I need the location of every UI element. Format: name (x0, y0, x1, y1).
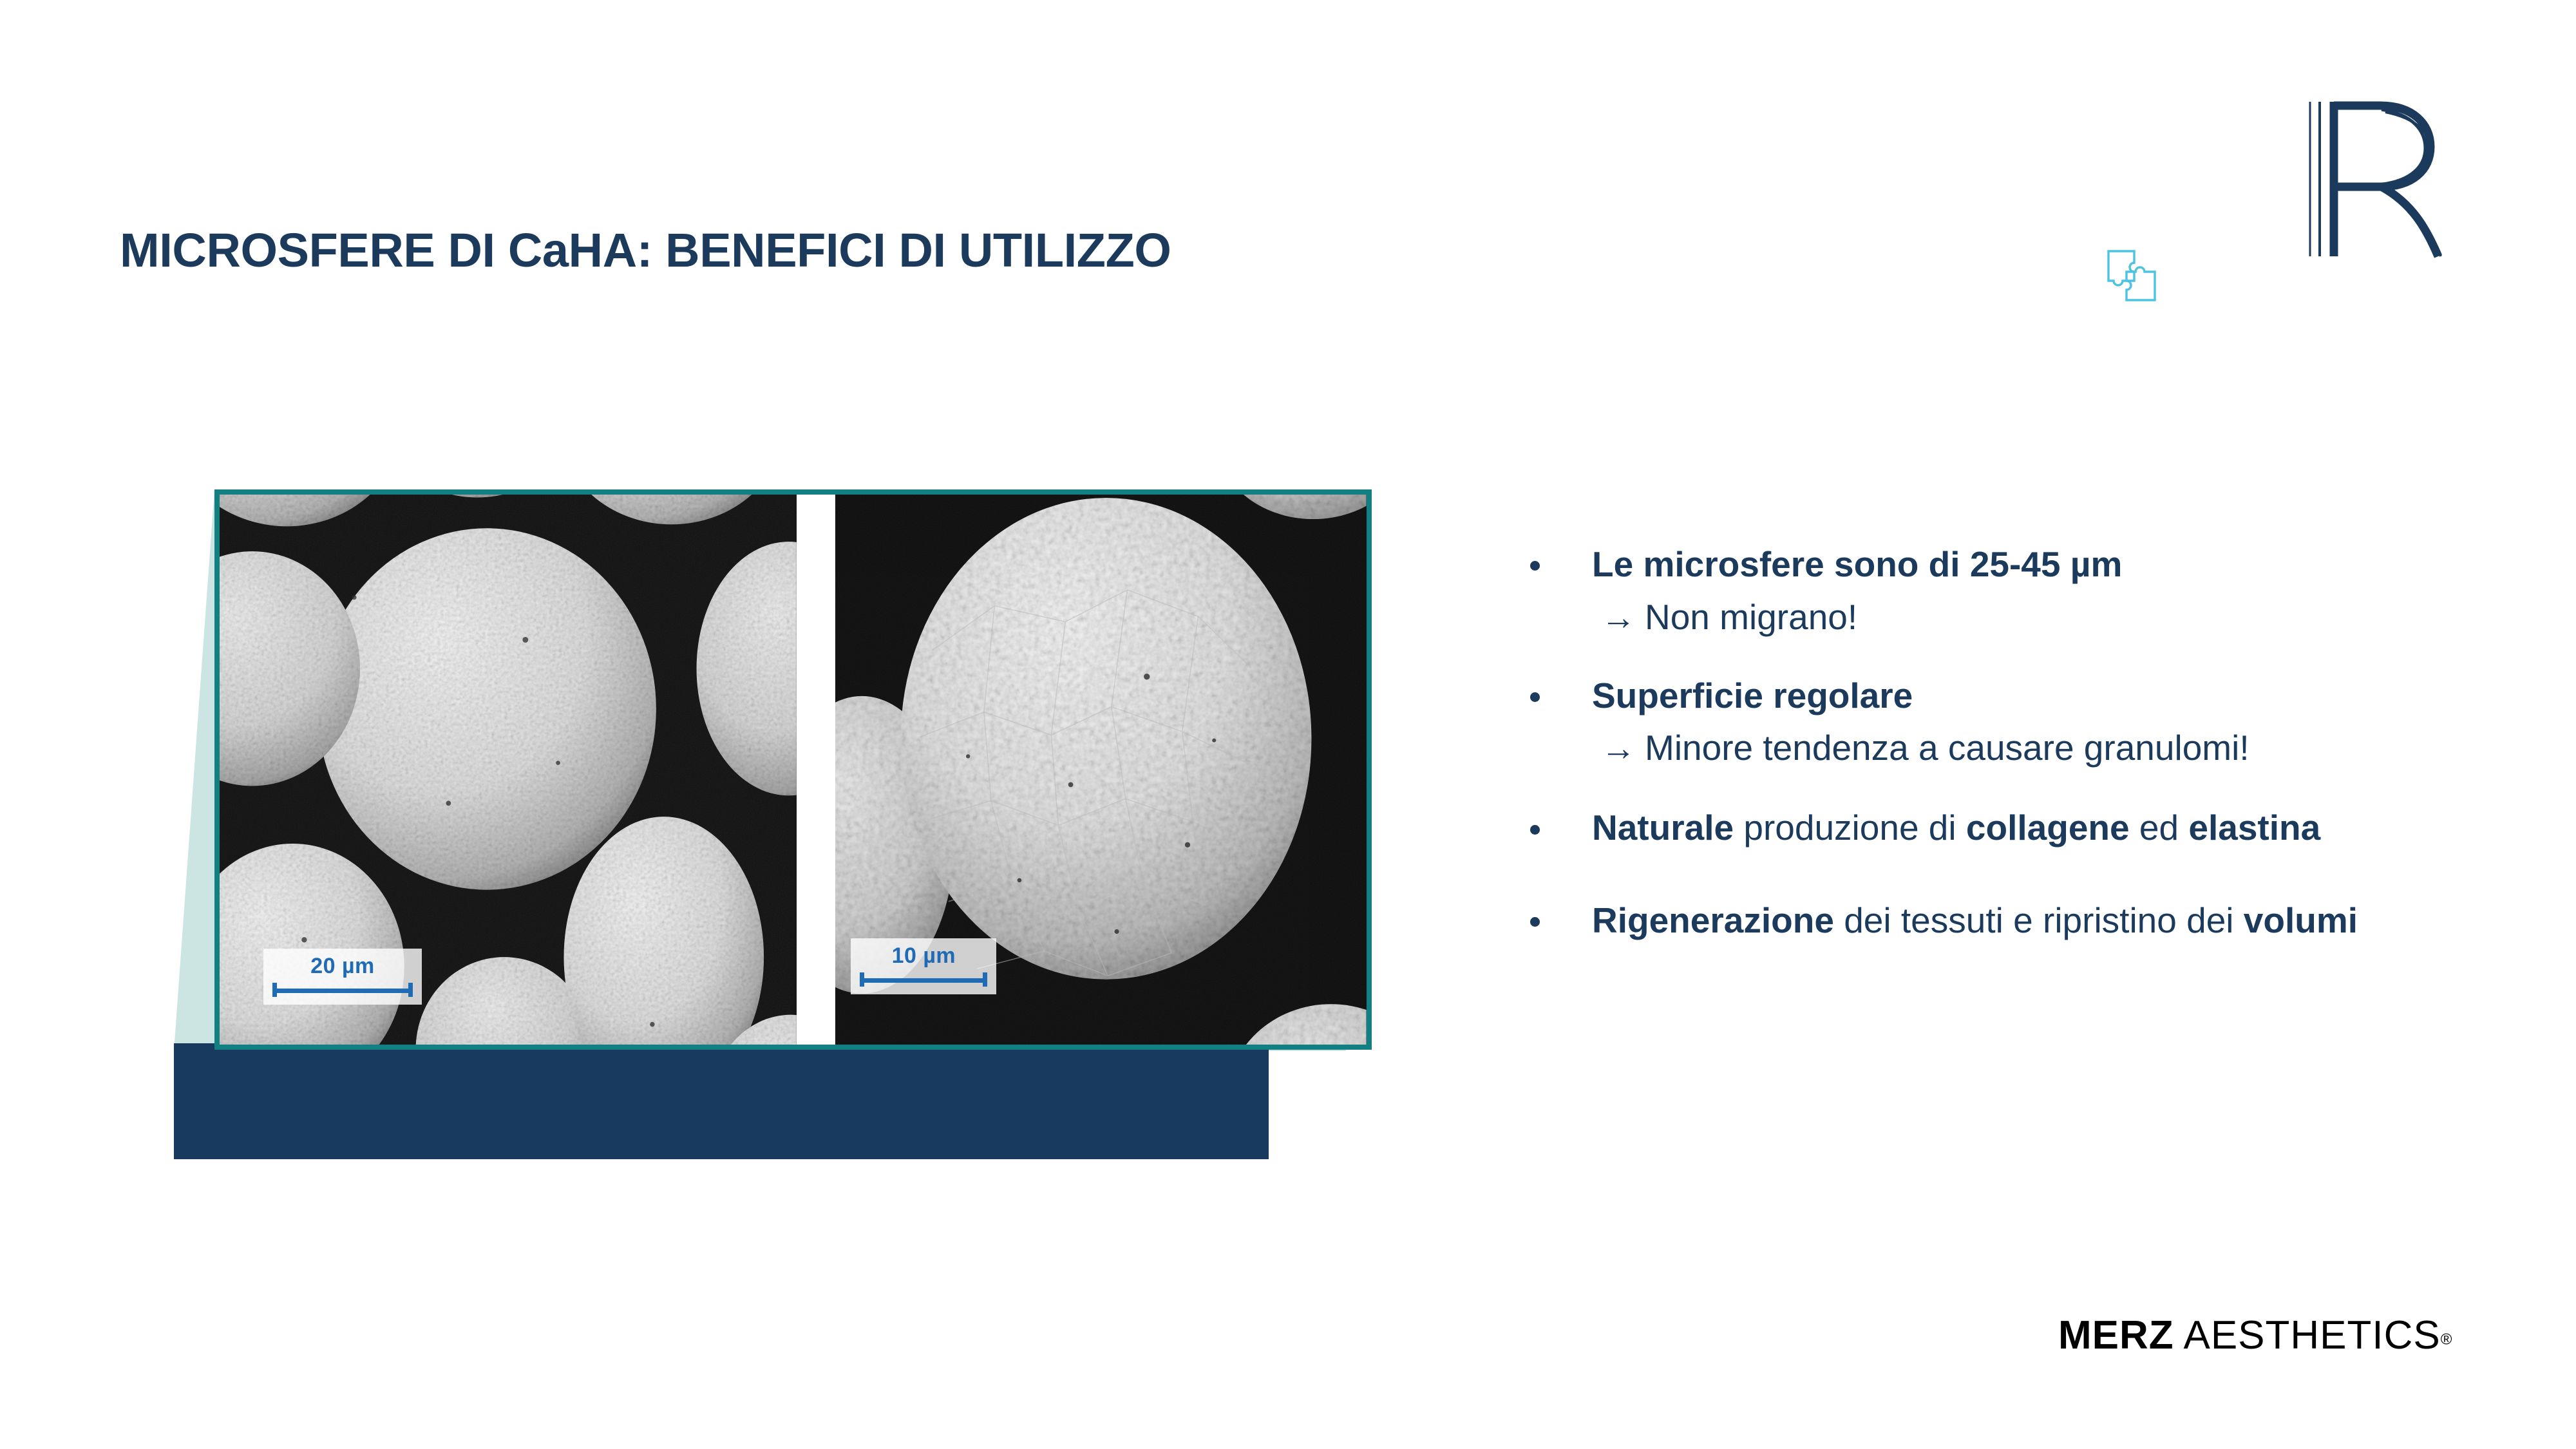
micrograph-figure-group: 20 µm (174, 489, 1346, 1159)
bullet-row: Le microsfere sono di 25-45 µm (1525, 544, 2568, 585)
bullet-block: Naturale produzione di collagene ed elas… (1525, 808, 2568, 849)
bullet-sub-label: Non migrano! (1645, 597, 1857, 637)
merz-wordmark: MERZ (2058, 1313, 2174, 1358)
registered-mark: ® (2441, 1331, 2452, 1349)
scalebar-10um: 10 µm (851, 938, 996, 994)
bullet-block: Superficie regolare →Minore tendenza a c… (1525, 676, 2568, 770)
benefits-bullet-list: Le microsfere sono di 25-45 µm →Non migr… (1525, 544, 2568, 942)
bullet-marker-icon (1530, 825, 1540, 835)
bullet-main-text: Rigenerazione dei tessuti e ripristino d… (1592, 900, 2358, 940)
pedestal-base-block (174, 1043, 1269, 1159)
bullet-text-bold: volumi (2244, 900, 2358, 940)
arrow-icon: → (1601, 598, 1636, 638)
bullet-text-bold: Le microsfere sono di 25-45 µm (1592, 544, 2122, 584)
bullet-text-bold: elastina (2188, 808, 2320, 848)
bullet-text-regular: ed (2130, 808, 2189, 848)
sem-micrograph-low-mag: 20 µm (220, 495, 797, 1045)
aesthetics-wordmark-text: AESTHETICS (2183, 1313, 2440, 1358)
puzzle-pieces-icon (2098, 243, 2163, 308)
radiesse-r-logo (2304, 90, 2465, 264)
bullet-block: Rigenerazione dei tessuti e ripristino d… (1525, 900, 2568, 942)
scalebar-label: 10 µm (860, 945, 987, 967)
bullet-sub-label: Minore tendenza a causare granulomi! (1645, 728, 2249, 768)
bullet-text-bold: Rigenerazione (1592, 900, 1834, 940)
bullet-main-text: Naturale produzione di collagene ed elas… (1592, 808, 2320, 848)
bullet-text-bold: Superficie regolare (1592, 676, 1913, 715)
bullet-text-regular: produzione di (1734, 808, 1966, 848)
scalebar-label: 20 µm (272, 955, 413, 977)
aesthetics-wordmark (2174, 1313, 2184, 1358)
sem-micrograph-high-mag: 10 µm (835, 495, 1367, 1045)
page-title: MICROSFERE DI CaHA: BENEFICI DI UTILIZZO (120, 227, 1171, 274)
merz-aesthetics-logo: MERZ AESTHETICS® (2058, 1312, 2470, 1364)
bullet-row: Naturale produzione di collagene ed elas… (1525, 808, 2568, 849)
bullet-text-bold: collagene (1966, 808, 2130, 848)
bullet-main-text: Superficie regolare (1592, 676, 1913, 715)
panel-gap (797, 495, 836, 1045)
bullet-sub-text: →Non migrano! (1525, 597, 2568, 638)
micrograph-frame: 20 µm (214, 489, 1372, 1050)
bullet-text-regular: dei tessuti e ripristino dei (1834, 900, 2244, 940)
bullet-text-bold: Naturale (1592, 808, 1734, 848)
bullet-marker-icon (1530, 917, 1540, 927)
bullet-sub-text: →Minore tendenza a causare granulomi! (1525, 728, 2568, 769)
bullet-marker-icon (1530, 561, 1540, 571)
scalebar-rule (272, 983, 413, 997)
arrow-icon: → (1601, 728, 1636, 769)
bullet-block: Le microsfere sono di 25-45 µm →Non migr… (1525, 544, 2568, 638)
bullet-marker-icon (1530, 692, 1540, 702)
bullet-main-text: Le microsfere sono di 25-45 µm (1592, 544, 2122, 584)
scalebar-rule (860, 972, 987, 987)
bullet-row: Superficie regolare (1525, 676, 2568, 717)
scalebar-20um: 20 µm (263, 949, 422, 1005)
bullet-row: Rigenerazione dei tessuti e ripristino d… (1525, 900, 2568, 942)
slide-canvas: MICROSFERE DI CaHA: BENEFICI DI UTILIZZO (0, 0, 2576, 1449)
